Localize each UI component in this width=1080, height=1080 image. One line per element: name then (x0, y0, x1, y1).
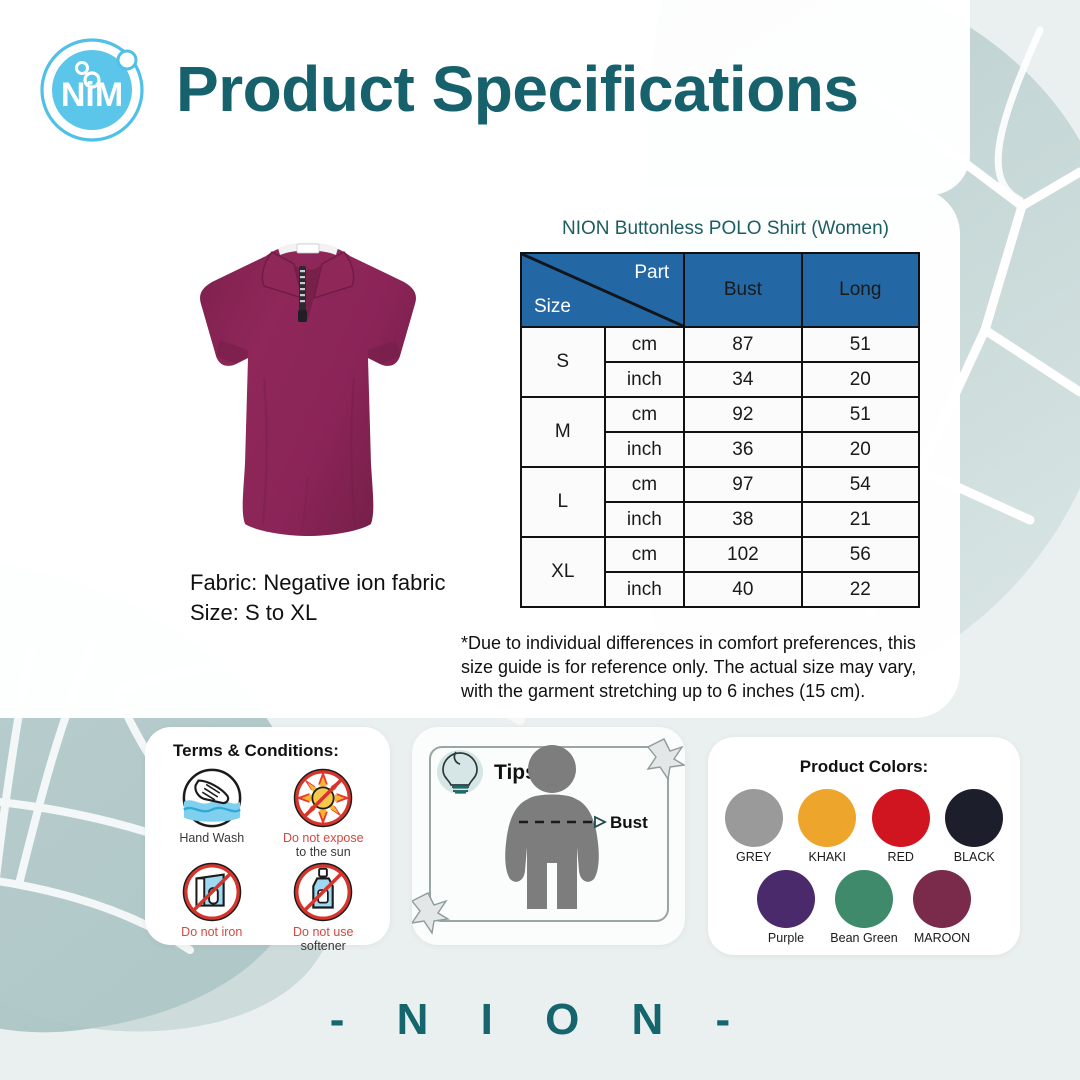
swatch-label: MAROON (908, 931, 976, 945)
swatch-bean-green[interactable]: Bean Green (830, 870, 898, 945)
care-icon-grid: Hand Wash (145, 761, 390, 953)
swatch-dot (798, 789, 856, 847)
bust-value: 38 (684, 502, 801, 537)
swatch-khaki[interactable]: KHAKI (796, 789, 860, 864)
care-label: Do not use softener (271, 925, 377, 953)
header-size-label: Size (534, 296, 571, 318)
bust-value: 92 (684, 397, 801, 432)
bust-measure-label: Bust (610, 813, 648, 832)
header-corner-cell: Part Size (521, 253, 684, 327)
care-item-no-sun: Do not expose to the sun (271, 767, 377, 859)
swatch-label: KHAKI (796, 850, 860, 864)
bust-value: 36 (684, 432, 801, 467)
care-item-no-softener: Do not use softener (271, 861, 377, 953)
page-header: NiM Product Specifications (0, 0, 1080, 170)
no-sun-icon (292, 767, 354, 829)
hand-wash-icon (181, 767, 243, 829)
table-row: M cm 92 51 (521, 397, 919, 432)
swatch-dot (945, 789, 1003, 847)
header-part-label: Part (634, 262, 669, 284)
care-line-1: Hand Wash (179, 831, 244, 845)
care-label: Do not iron (159, 925, 265, 939)
colors-heading: Product Colors: (708, 757, 1020, 777)
care-line-1: Do not expose (283, 831, 364, 845)
swatch-label: Bean Green (830, 931, 898, 945)
svg-text:NiM: NiM (61, 76, 123, 114)
size-label: XL (521, 537, 605, 607)
unit-label: cm (605, 537, 685, 572)
bust-value: 97 (684, 467, 801, 502)
care-line-1: Do not use (293, 925, 353, 939)
swatch-purple[interactable]: Purple (752, 870, 820, 945)
unit-label: cm (605, 467, 685, 502)
swatch-dot (757, 870, 815, 928)
swatch-black[interactable]: BLACK (943, 789, 1007, 864)
swatch-row-2: Purple Bean Green MAROON (722, 870, 1006, 945)
bust-value: 34 (684, 362, 801, 397)
swatch-red[interactable]: RED (869, 789, 933, 864)
star-decoration-top-right (648, 739, 684, 779)
brand-footer: - N I O N - (0, 995, 1080, 1045)
swatch-dot (835, 870, 893, 928)
swatch-label: BLACK (943, 850, 1007, 864)
long-value: 21 (802, 502, 919, 537)
unit-label: inch (605, 502, 685, 537)
long-value: 51 (802, 397, 919, 432)
care-line-2: to the sun (296, 845, 351, 859)
size-disclaimer: *Due to individual differences in comfor… (461, 632, 931, 704)
long-value: 20 (802, 432, 919, 467)
size-line: Size: S to XL (190, 598, 446, 628)
long-value: 54 (802, 467, 919, 502)
table-row: S cm 87 51 (521, 327, 919, 362)
product-colors-panel: Product Colors: GREY KHAKI RED BLACK (708, 737, 1020, 955)
care-item-hand-wash: Hand Wash (159, 767, 265, 859)
care-line-1: Do not iron (181, 925, 242, 939)
fabric-line: Fabric: Negative ion fabric (190, 568, 446, 598)
size-label: L (521, 467, 605, 537)
swatch-label: RED (869, 850, 933, 864)
color-swatch-grid: GREY KHAKI RED BLACK Purple Bean Gr (708, 777, 1020, 945)
terms-heading: Terms & Conditions: (145, 741, 390, 761)
care-label: Do not expose to the sun (271, 831, 377, 859)
product-meta: Fabric: Negative ion fabric Size: S to X… (190, 568, 446, 627)
swatch-label: GREY (722, 850, 786, 864)
swatch-dot (913, 870, 971, 928)
no-softener-icon (292, 861, 354, 923)
terms-conditions-panel: Terms & Conditions: Hand Wash (145, 727, 390, 945)
swatch-row-1: GREY KHAKI RED BLACK (722, 789, 1006, 864)
swatch-grey[interactable]: GREY (722, 789, 786, 864)
long-value: 22 (802, 572, 919, 607)
table-row: L cm 97 54 (521, 467, 919, 502)
bust-value: 40 (684, 572, 801, 607)
page-title: Product Specifications (176, 52, 858, 126)
tips-panel: Tips Bust (412, 727, 685, 945)
swatch-label: Purple (752, 931, 820, 945)
care-line-2: softener (301, 939, 346, 953)
product-photo-polo-shirt (168, 228, 448, 558)
care-item-no-iron: Do not iron (159, 861, 265, 953)
unit-label: inch (605, 432, 685, 467)
unit-label: cm (605, 397, 685, 432)
table-header-row: Part Size Bust Long (521, 253, 919, 327)
long-value: 51 (802, 327, 919, 362)
bust-value: 102 (684, 537, 801, 572)
swatch-dot (872, 789, 930, 847)
size-chart-table: Part Size Bust Long S cm 87 51 inch 34 2… (520, 252, 920, 608)
no-iron-icon (181, 861, 243, 923)
size-chart-title: NION Buttonless POLO Shirt (Women) (562, 218, 889, 240)
unit-label: cm (605, 327, 685, 362)
table-row: XL cm 102 56 (521, 537, 919, 572)
bust-value: 87 (684, 327, 801, 362)
unit-label: inch (605, 362, 685, 397)
nim-logo-icon: NiM (36, 32, 148, 144)
unit-label: inch (605, 572, 685, 607)
long-value: 56 (802, 537, 919, 572)
size-label: M (521, 397, 605, 467)
long-value: 20 (802, 362, 919, 397)
tips-illustration: Tips Bust (412, 727, 685, 945)
star-decoration-bottom-left (412, 893, 448, 933)
size-label: S (521, 327, 605, 397)
care-label: Hand Wash (159, 831, 265, 845)
header-bust: Bust (684, 253, 801, 327)
swatch-dot (725, 789, 783, 847)
bust-arrow-icon (595, 817, 605, 827)
swatch-maroon[interactable]: MAROON (908, 870, 976, 945)
header-long: Long (802, 253, 919, 327)
